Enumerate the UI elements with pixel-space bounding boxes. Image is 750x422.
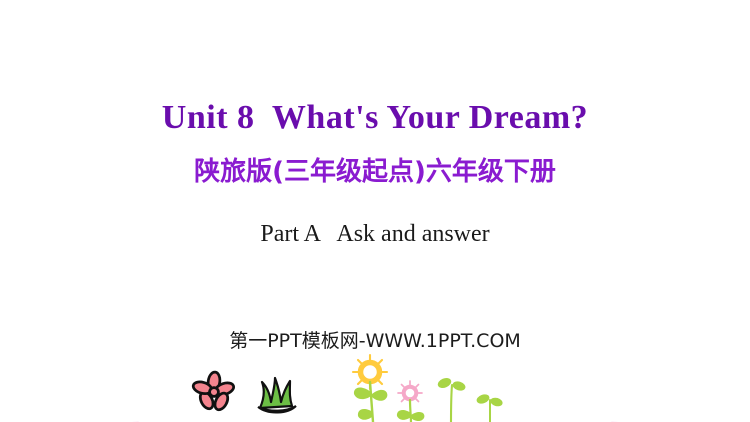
pink-outlined-flower-icon — [192, 371, 235, 412]
lesson-part-label: Part A Ask and answer — [0, 221, 750, 249]
grass-tuft-icon — [258, 378, 296, 413]
page-title: Unit 8 What's Your Dream? — [0, 99, 750, 136]
petal-right-pink — [611, 400, 750, 422]
sprout-tall-icon — [436, 376, 466, 422]
textbook-edition-subtitle: 陕旅版(三年级起点)六年级下册 — [0, 158, 750, 188]
sprout-short-icon — [475, 393, 503, 422]
background-decoration — [0, 0, 750, 422]
presentation-slide: Unit 8 What's Your Dream? 陕旅版(三年级起点)六年级下… — [0, 0, 750, 422]
yellow-sun-flower-icon — [353, 355, 387, 422]
small-pink-flower-icon — [397, 381, 424, 422]
petal-left-pink — [0, 400, 139, 422]
site-watermark: 第一PPT模板网-WWW.1PPT.COM — [0, 326, 750, 353]
